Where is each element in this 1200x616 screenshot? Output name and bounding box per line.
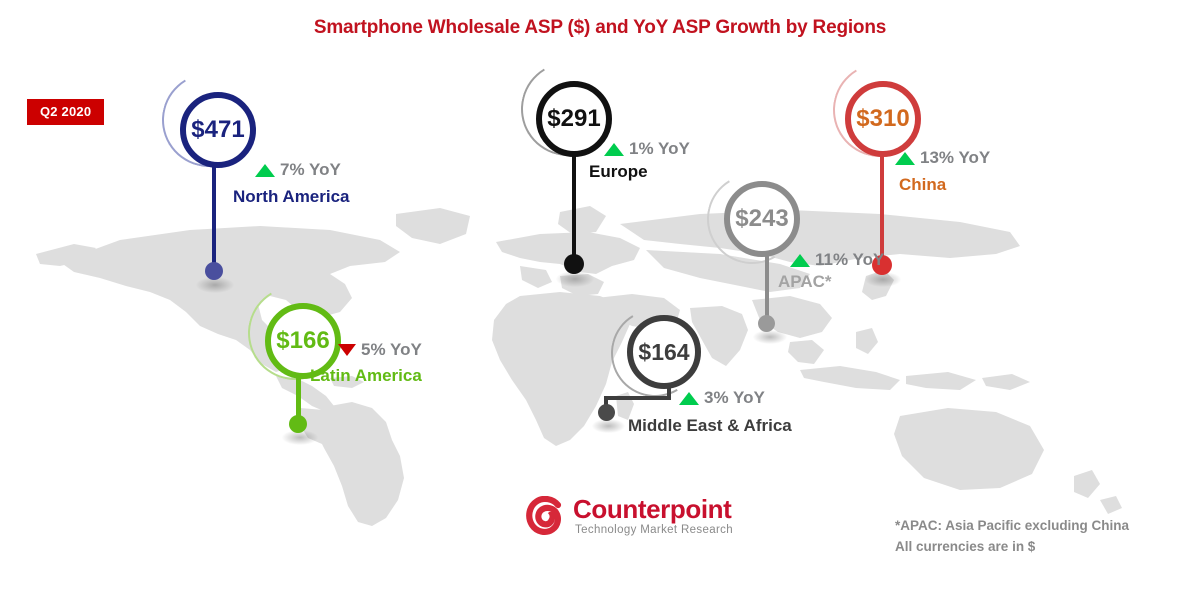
- brand-name: Counterpoint: [573, 496, 731, 522]
- growth-up-triangle-icon: [679, 392, 699, 405]
- world-map: [0, 200, 1200, 530]
- pin-stem-europe: [572, 150, 576, 258]
- asp-bubble-middle-east-africa: $164: [627, 315, 701, 389]
- counterpoint-logo-icon: [525, 496, 565, 536]
- region-label-china: China: [899, 175, 946, 195]
- region-label-latin-america: Latin America: [310, 366, 422, 386]
- asp-bubble-north-america: $471: [180, 92, 256, 168]
- yoy-apac: 11% YoY: [790, 250, 884, 270]
- pin-stem-north-america: [212, 160, 216, 272]
- region-label-middle-east-africa: Middle East & Africa: [628, 416, 792, 436]
- yoy-label-china: 13% YoY: [920, 148, 990, 168]
- yoy-label-apac: 11% YoY: [815, 250, 884, 270]
- footnote-line-2: All currencies are in $: [895, 537, 1129, 558]
- pin-dot-north-america: [205, 262, 223, 280]
- yoy-china: 13% YoY: [895, 148, 990, 168]
- growth-up-triangle-icon: [255, 164, 275, 177]
- footnote-line-1: *APAC: Asia Pacific excluding China: [895, 516, 1129, 537]
- yoy-label-middle-east-africa: 3% YoY: [704, 388, 765, 408]
- pin-stem-china: [880, 150, 884, 260]
- asp-bubble-china: $310: [845, 81, 921, 157]
- pin-elbow-middle-east-africa: [604, 396, 671, 400]
- brand-logo: Counterpoint Technology Market Research: [525, 494, 740, 546]
- pin-shadow-middle-east-africa: [592, 419, 625, 433]
- pin-dot-middle-east-africa: [598, 404, 615, 421]
- region-label-north-america: North America: [233, 187, 350, 207]
- yoy-latin-america: 5% YoY: [338, 340, 422, 360]
- region-label-europe: Europe: [589, 162, 648, 182]
- yoy-label-north-america: 7% YoY: [280, 160, 341, 180]
- pin-stem-apac: [765, 250, 769, 316]
- growth-up-triangle-icon: [790, 254, 810, 267]
- period-badge: Q2 2020: [27, 99, 104, 125]
- yoy-europe: 1% YoY: [604, 139, 690, 159]
- growth-down-triangle-icon: [338, 344, 356, 356]
- pin-dot-latin-america: [289, 415, 307, 433]
- yoy-north-america: 7% YoY: [255, 160, 341, 180]
- asp-bubble-apac: $243: [724, 181, 800, 257]
- pin-shadow-apac: [753, 330, 787, 344]
- footnote: *APAC: Asia Pacific excluding China All …: [895, 516, 1129, 558]
- yoy-label-latin-america: 5% YoY: [361, 340, 422, 360]
- asp-bubble-europe: $291: [536, 81, 612, 157]
- pin-dot-europe: [564, 254, 584, 274]
- yoy-middle-east-africa: 3% YoY: [679, 388, 765, 408]
- region-label-apac: APAC*: [778, 272, 832, 292]
- pin-dot-apac: [758, 315, 775, 332]
- growth-up-triangle-icon: [604, 143, 624, 156]
- page-title: Smartphone Wholesale ASP ($) and YoY ASP…: [0, 17, 1200, 39]
- brand-tagline: Technology Market Research: [575, 525, 733, 537]
- growth-up-triangle-icon: [895, 152, 915, 165]
- yoy-label-europe: 1% YoY: [629, 139, 690, 159]
